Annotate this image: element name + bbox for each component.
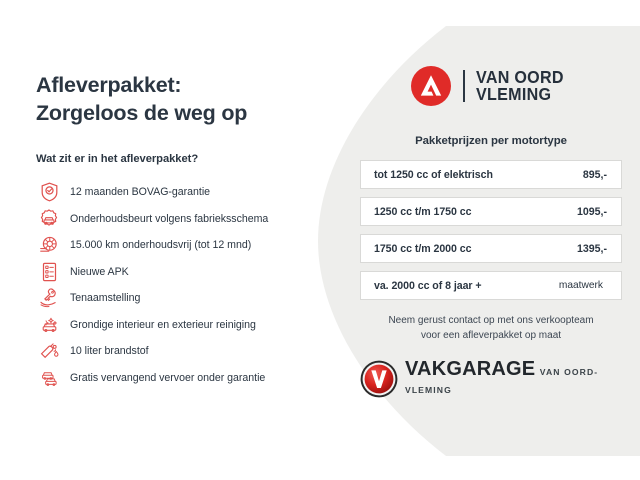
right-content-column: VAN OORD VLEMING Pakketprijzen per motor… xyxy=(360,60,622,398)
features-subheading: Wat zit er in het afleverpakket? xyxy=(36,153,326,165)
list-item: Nieuwe APK xyxy=(36,259,326,286)
wheel-odometer-icon xyxy=(36,233,62,257)
list-item: Onderhoudsbeurt volgens fabrieksschema xyxy=(36,206,326,233)
list-item-label: Gratis vervangend vervoer onder garantie xyxy=(70,372,265,384)
contact-note-line-2: voor een afleverpakket op maat xyxy=(360,329,622,344)
list-item: Grondige interieur en exterieur reinigin… xyxy=(36,312,326,339)
van-oord-vleming-logo: VAN OORD VLEMING xyxy=(360,60,622,112)
contact-note-line-1: Neem gerust contact op met ons verkoopte… xyxy=(360,314,622,329)
fuel-nozzle-icon xyxy=(36,339,62,363)
vakgarage-name: VAKGARAGE xyxy=(405,358,535,380)
poster-canvas: Afleverpakket: Zorgeloos de weg op Wat z… xyxy=(0,0,640,480)
price-row-value: 1095,- xyxy=(577,206,607,218)
list-item-label: Nieuwe APK xyxy=(70,266,129,278)
page-title: Afleverpakket: Zorgeloos de weg op xyxy=(36,72,326,127)
van-oord-a-mark-icon xyxy=(411,66,451,106)
list-item-label: Grondige interieur en exterieur reinigin… xyxy=(70,319,256,331)
headline-line-1: Afleverpakket: xyxy=(36,73,181,97)
table-row: 1750 cc t/m 2000 cc 1395,- xyxy=(360,234,622,263)
price-row-label: va. 2000 cc of 8 jaar + xyxy=(374,280,482,292)
price-row-value: 1395,- xyxy=(577,243,607,255)
list-item: 15.000 km onderhoudsvrij (tot 12 mnd) xyxy=(36,232,326,259)
van-oord-wordmark: VAN OORD VLEMING xyxy=(476,69,564,104)
price-table-title: Pakketprijzen per motortype xyxy=(360,135,622,147)
features-list: 12 maanden BOVAG-garantie Onderhoudsbeur… xyxy=(36,179,326,391)
list-item-label: Tenaamstelling xyxy=(70,292,140,304)
car-wash-sparkle-icon xyxy=(36,313,62,337)
contact-note: Neem gerust contact op met ons verkoopte… xyxy=(360,314,622,343)
list-item: Gratis vervangend vervoer onder garantie xyxy=(36,365,326,392)
price-row-value: maatwerk xyxy=(559,280,603,291)
logo-divider xyxy=(463,70,465,102)
price-table: tot 1250 cc of elektrisch 895,- 1250 cc … xyxy=(360,160,622,300)
price-row-label: 1250 cc t/m 1750 cc xyxy=(374,206,471,218)
headline-line-2: Zorgeloos de weg op xyxy=(36,100,326,128)
list-item-label: 15.000 km onderhoudsvrij (tot 12 mnd) xyxy=(70,239,251,251)
list-item: Tenaamstelling xyxy=(36,285,326,312)
vakgarage-wordmark: VAKGARAGE VAN OORD-VLEMING xyxy=(405,359,622,398)
price-row-value: 895,- xyxy=(583,169,607,181)
table-row: tot 1250 cc of elektrisch 895,- xyxy=(360,160,622,189)
wordmark-line-2: VLEMING xyxy=(476,86,564,104)
left-content-column: Afleverpakket: Zorgeloos de weg op Wat z… xyxy=(36,72,326,391)
car-service-gear-icon xyxy=(36,207,62,231)
price-row-label: 1750 cc t/m 2000 cc xyxy=(374,243,471,255)
price-row-label: tot 1250 cc of elektrisch xyxy=(374,169,493,181)
list-item-label: 10 liter brandstof xyxy=(70,345,149,357)
list-item: 12 maanden BOVAG-garantie xyxy=(36,179,326,206)
two-cars-icon xyxy=(36,366,62,390)
list-item: 10 liter brandstof xyxy=(36,338,326,365)
vakgarage-v-badge-icon xyxy=(360,360,398,398)
shield-check-icon xyxy=(36,180,62,204)
key-handover-icon xyxy=(36,286,62,310)
list-item-label: Onderhoudsbeurt volgens fabrieksschema xyxy=(70,213,268,225)
table-row: va. 2000 cc of 8 jaar + maatwerk xyxy=(360,271,622,300)
vakgarage-logo: VAKGARAGE VAN OORD-VLEMING xyxy=(360,359,622,398)
list-item-label: 12 maanden BOVAG-garantie xyxy=(70,186,210,198)
wordmark-line-1: VAN OORD xyxy=(476,69,564,87)
checklist-document-icon xyxy=(36,260,62,284)
table-row: 1250 cc t/m 1750 cc 1095,- xyxy=(360,197,622,226)
